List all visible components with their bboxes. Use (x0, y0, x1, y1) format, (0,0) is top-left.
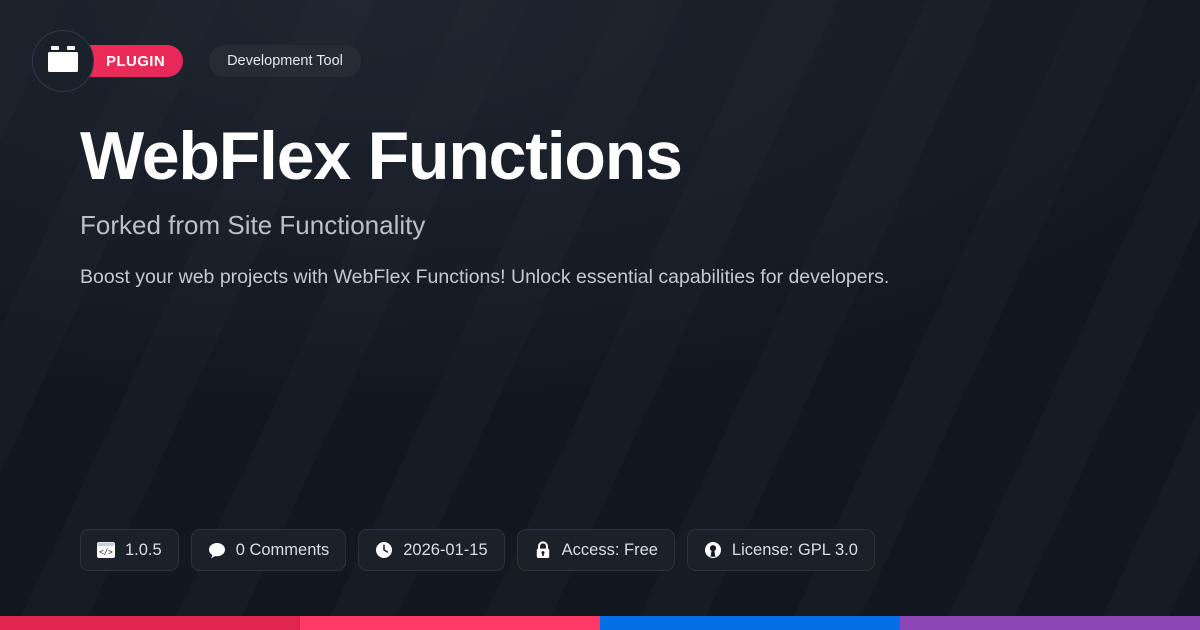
open-source-icon (704, 541, 722, 559)
lock-icon (534, 541, 552, 559)
date-badge: 2026-01-15 (358, 529, 504, 571)
license-label: License: GPL 3.0 (732, 542, 858, 559)
comment-icon (208, 541, 226, 559)
color-bar-segment-3 (600, 616, 900, 630)
version-badge: </> 1.0.5 (80, 529, 179, 571)
page-subtitle: Forked from Site Functionality (80, 210, 425, 241)
meta-badge-row: </> 1.0.5 0 Comments 2026-01-15 (80, 529, 875, 571)
clock-icon (375, 541, 393, 559)
code-window-icon: </> (97, 541, 115, 559)
bottom-color-bar (0, 616, 1200, 630)
svg-text:</>: </> (99, 547, 113, 556)
license-badge: License: GPL 3.0 (687, 529, 875, 571)
comments-badge[interactable]: 0 Comments (191, 529, 347, 571)
access-label: Access: Free (562, 542, 658, 559)
page-title: WebFlex Functions (80, 122, 682, 190)
page-description: Boost your web projects with WebFlex Fun… (80, 264, 889, 291)
version-label: 1.0.5 (125, 542, 162, 559)
color-bar-segment-4 (900, 616, 1200, 630)
date-label: 2026-01-15 (403, 542, 487, 559)
plugin-hero-card: PLUGIN Development Tool WebFlex Function… (0, 0, 1200, 630)
color-bar-segment-1 (0, 616, 300, 630)
header-row: PLUGIN Development Tool (32, 30, 361, 92)
plugin-box-icon (46, 44, 80, 79)
avatar (32, 30, 94, 92)
color-bar-segment-2 (300, 616, 600, 630)
comments-label: 0 Comments (236, 542, 330, 559)
category-tag[interactable]: Development Tool (209, 45, 361, 77)
access-badge: Access: Free (517, 529, 675, 571)
